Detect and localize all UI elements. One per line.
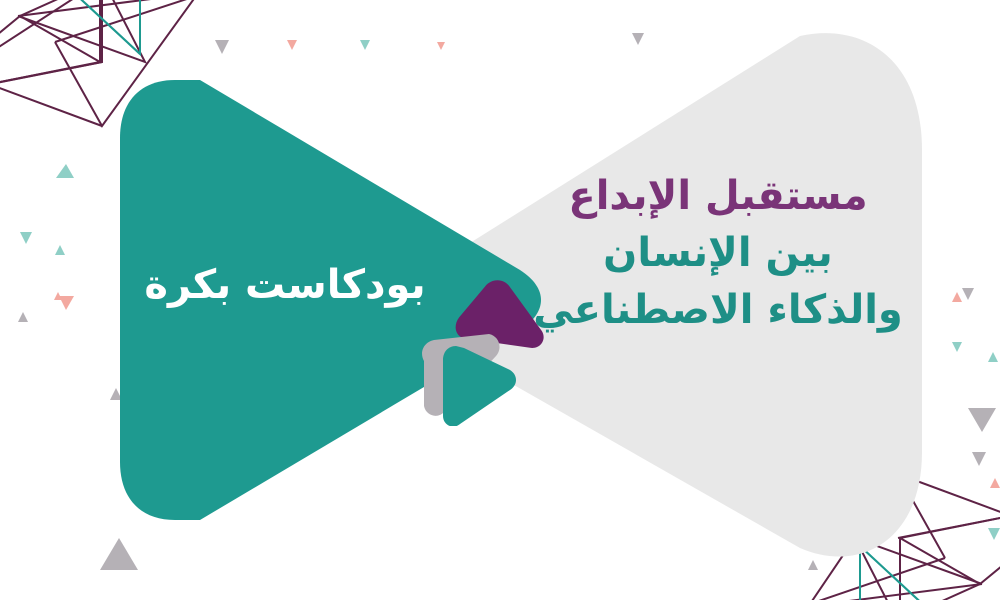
headline-block: مستقبل الإبداع بين الإنسان والذكاء الاصط… bbox=[508, 168, 928, 338]
teal-play-triangle bbox=[443, 346, 516, 426]
headline-line-3: والذكاء الاصطناعي bbox=[508, 282, 928, 339]
poster-canvas: بودكاست بكرة مستقبل الإبداع بين الإنسان … bbox=[0, 0, 1000, 600]
headline-line-2: بين الإنسان bbox=[508, 225, 928, 282]
brand-title: بودكاست بكرة bbox=[120, 262, 450, 308]
headline-line-1: مستقبل الإبداع bbox=[508, 168, 928, 225]
